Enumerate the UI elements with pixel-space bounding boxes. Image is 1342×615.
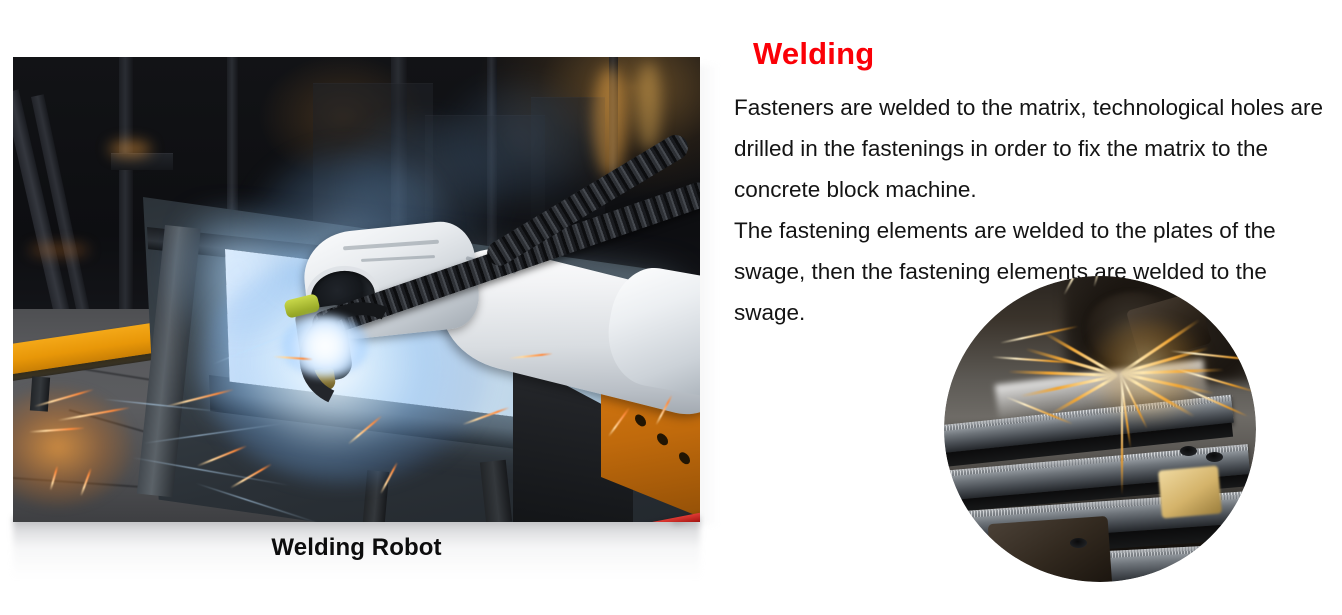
frame-hole [635,413,646,428]
weld-smoke [443,81,593,201]
drilled-hole [1206,452,1223,462]
weld-arc-core [281,315,369,377]
figure-caption: Welding Robot [13,534,700,562]
background-glow [593,67,627,177]
brass-insert [1158,465,1222,518]
drilled-hole [1070,538,1087,548]
table-leg [30,376,50,411]
background-glow [29,245,89,255]
paragraph-1: Fasteners are welded to the matrix, tech… [734,87,1342,210]
welded-plates-photo [944,276,1256,582]
background-glow [109,141,151,157]
section-title: Welding [753,36,874,72]
slide-canvas: Welding Robot Welding Fasteners are weld… [0,0,1342,615]
spark [1121,377,1123,495]
frame-hole [657,432,668,447]
frame-hole [679,451,690,466]
welding-robot-photo [13,57,700,522]
welded-plates-figure [944,276,1256,582]
drilled-hole [1180,446,1197,456]
background-glow [637,61,661,151]
column [119,57,133,319]
welding-robot-figure [13,57,700,522]
dark-block [988,516,1113,582]
